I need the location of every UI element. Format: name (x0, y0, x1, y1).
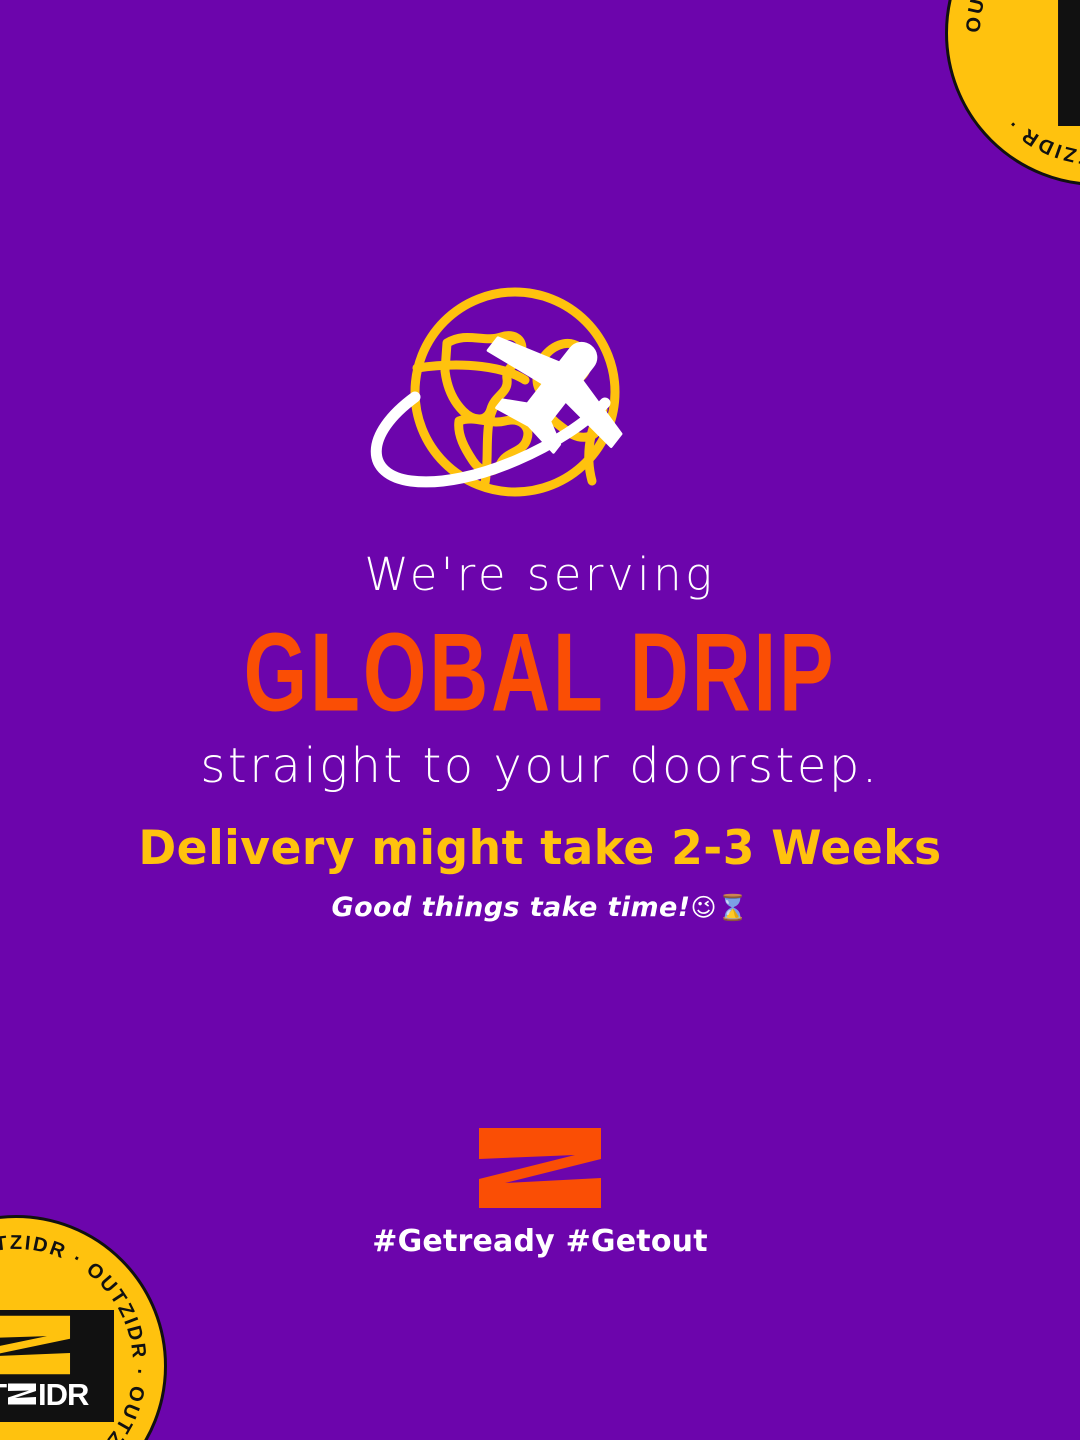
globe-airplane-illustration (355, 275, 715, 515)
promotional-poster: OUTZIDR · OUTZIDR · OUTZIDR · OUTZIDR · … (0, 0, 1080, 1440)
badge-center-letter-top-right: N (1044, 0, 1080, 159)
badge-wordmark-pre: OUT (0, 1379, 6, 1410)
brand-badge-bottom-left: OUTZIDR · OUTZIDR · OUTZIDR · OUTZIDR · … (0, 1215, 167, 1440)
delivery-notice-block: Delivery might take 2-3 Weeks Good thing… (0, 822, 1080, 923)
badge-wordmark-post: IDR (38, 1379, 88, 1410)
brand-badge-top-right: OUTZIDR · OUTZIDR · OUTZIDR · OUTZIDR · … (945, 0, 1080, 186)
delivery-subline-text: Good things take time! (332, 892, 691, 923)
airplane-icon (464, 298, 652, 478)
hourglass-emoji: ⌛ (717, 893, 749, 922)
badge-core-bottom-left: OUT IDR (0, 1310, 114, 1422)
badge-z-logo (0, 1314, 72, 1376)
headline-line-serving: We're serving (0, 548, 1080, 601)
headline-line-doorstep: straight to your doorstep. (0, 738, 1080, 796)
outzidr-z-logo (477, 1126, 603, 1210)
badge-wordmark: OUT IDR (0, 1377, 88, 1411)
headline-block: We're serving GLOBAL DRIP straight to yo… (0, 548, 1080, 796)
hashtags-text: #Getready #Getout (372, 1224, 707, 1259)
delivery-subline-row: Good things take time!😉⌛ (0, 892, 1080, 923)
delivery-headline: Delivery might take 2-3 Weeks (16, 822, 1064, 876)
wink-face-emoji: 😉 (690, 893, 716, 922)
badge-wordmark-z-icon (7, 1382, 37, 1406)
headline-line-global-drip: GLOBAL DRIP (27, 609, 1053, 738)
globe-icon (355, 275, 715, 515)
